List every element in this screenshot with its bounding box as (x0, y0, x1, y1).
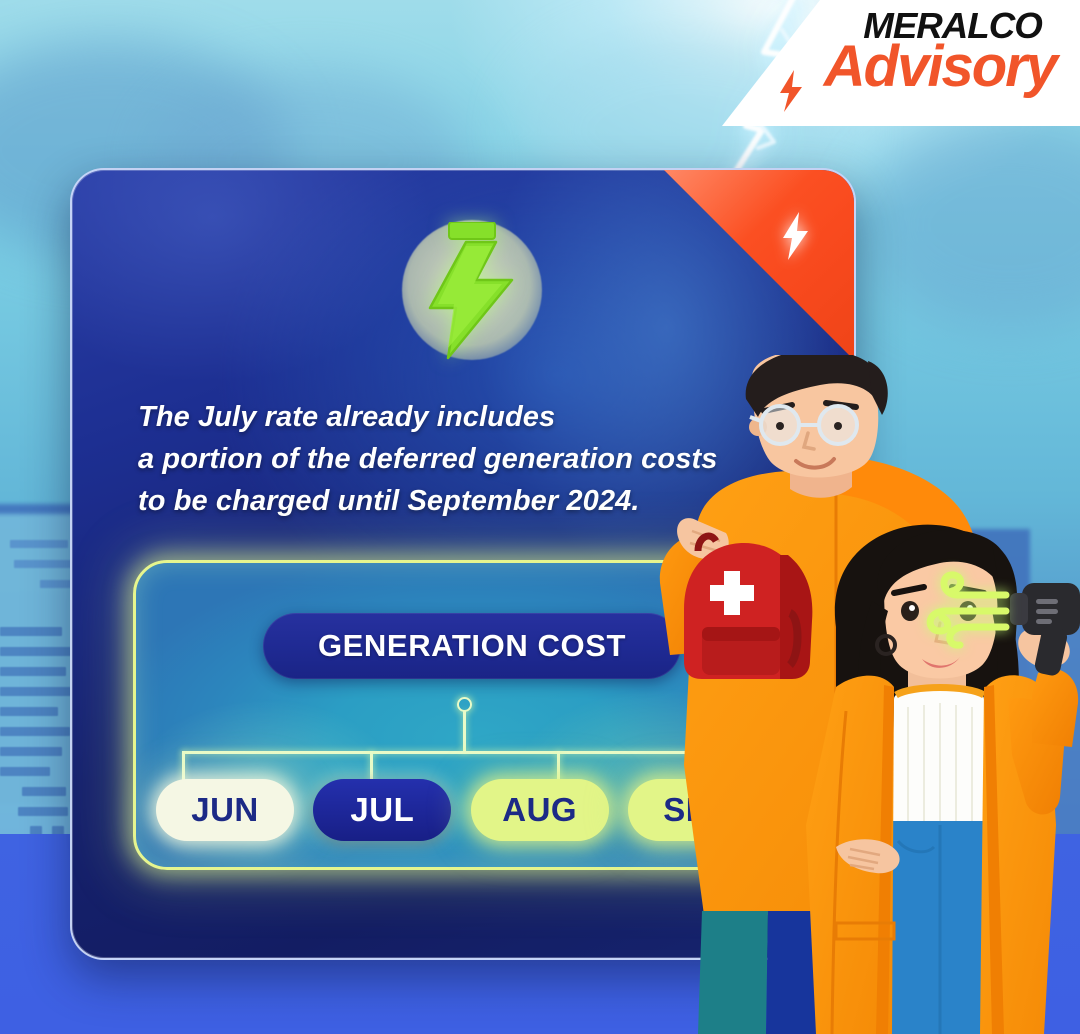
advisory-wordmark: Advisory (824, 38, 1056, 96)
generation-bolt-badge (398, 216, 546, 364)
month-pill-aug[interactable]: AUG (471, 779, 609, 841)
logo-bolt-icon (778, 70, 804, 112)
meralco-advisory-logo: MERALCO Advisory (762, 4, 1062, 116)
month-label: JUN (191, 791, 259, 829)
month-pill-jul[interactable]: JUL (313, 779, 451, 841)
month-label: AUG (502, 791, 577, 829)
month-pill-jun[interactable]: JUN (156, 779, 294, 841)
lightning-bolt-icon (780, 212, 810, 260)
tree-stem (463, 711, 466, 753)
corner-tab (664, 170, 854, 360)
tree-node-circle-icon (457, 697, 472, 712)
generation-cost-label: GENERATION COST (318, 628, 626, 664)
advisory-poster: MERALCO Advisory The July rate already i… (0, 0, 1080, 1034)
green-lightning-bolt-icon (426, 222, 518, 360)
hairdryer-icon (1010, 583, 1080, 677)
couple-illustration (640, 355, 1080, 1034)
generation-cost-badge[interactable]: GENERATION COST (263, 613, 681, 679)
illustration-characters (640, 355, 1080, 1034)
month-label: JUL (350, 791, 414, 829)
